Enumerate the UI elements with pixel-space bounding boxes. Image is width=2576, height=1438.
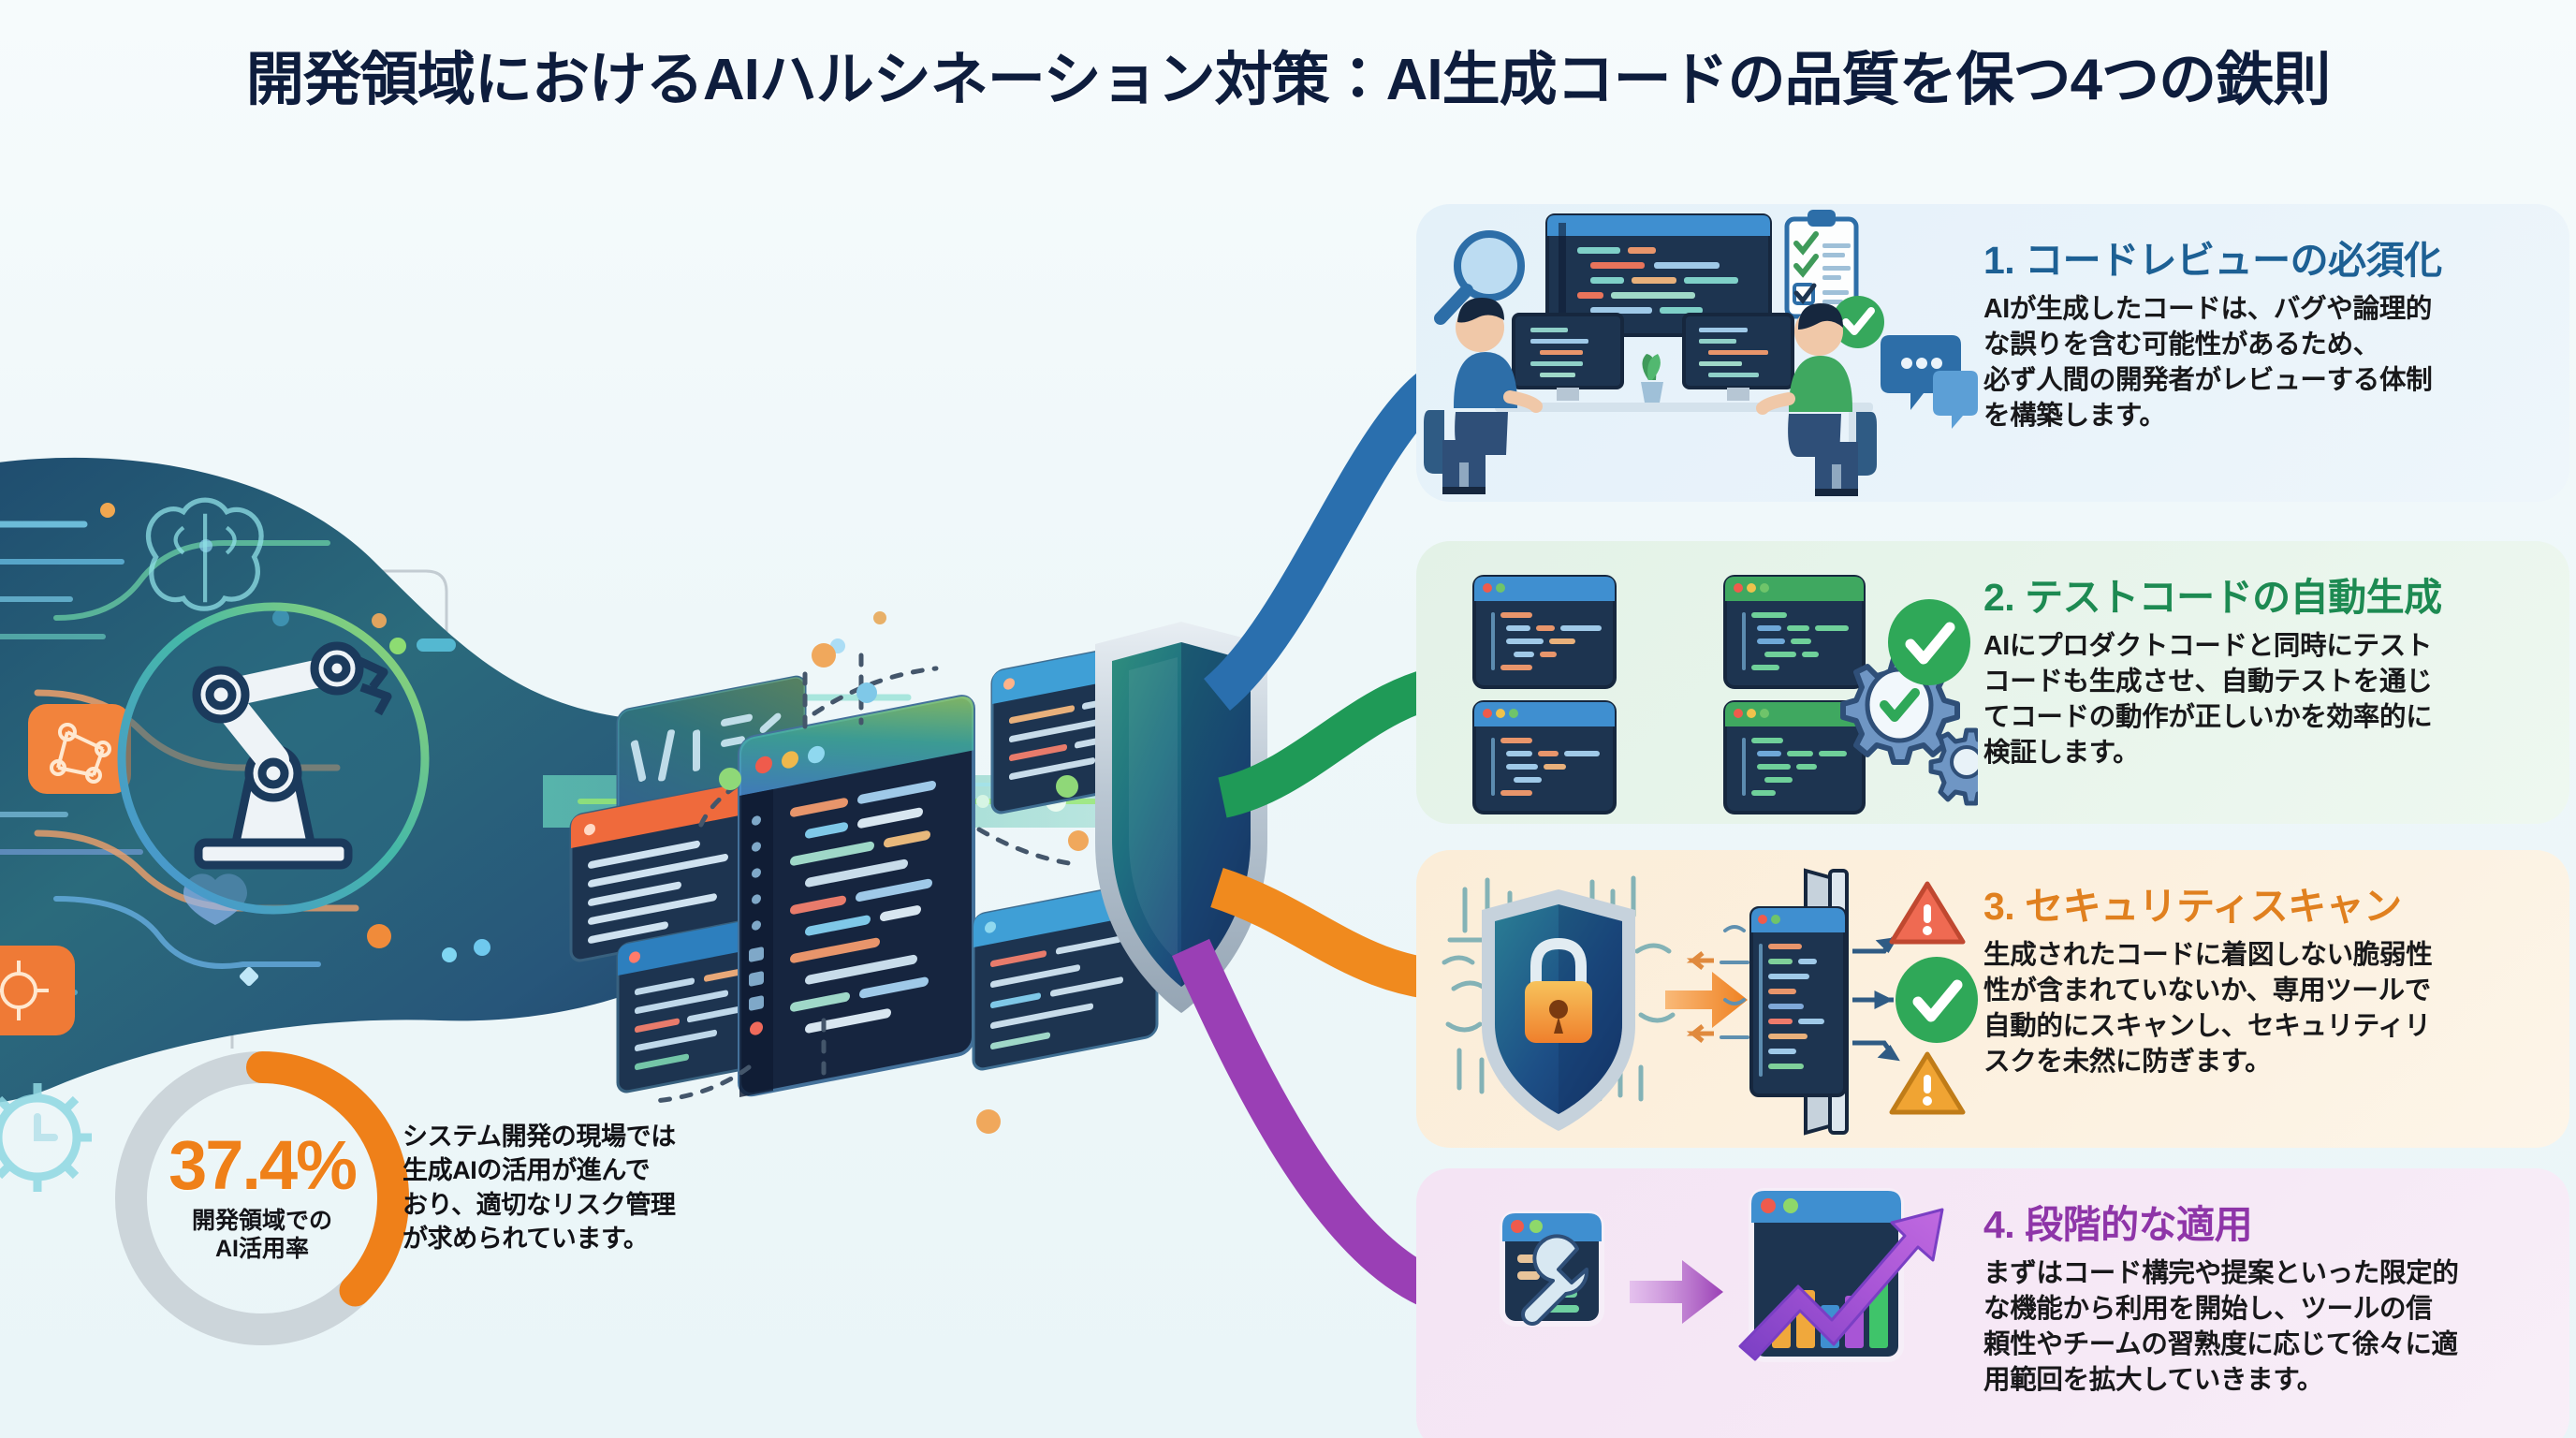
arrow-right-icon	[1665, 972, 1748, 1028]
ai-adoption-donut-chart: 37.4% 開発領域での AI活用率	[101, 1037, 423, 1359]
rule-card-2[interactable]: 2. テストコードの自動生成 AIにプロダクトコードと同時にテスト コードも生成…	[1416, 541, 2569, 824]
code-window-icon	[1725, 577, 1864, 687]
chat-bubble-icon	[1881, 335, 1978, 429]
stat-note: システム開発の現場では 生成AIの活用が進んで おり、適切なリスク管理 が求めら…	[402, 1120, 777, 1256]
wrench-window-icon	[1502, 1213, 1602, 1324]
card-2-heading: 2. テストコードの自動生成	[1983, 565, 2549, 622]
code-window-icon	[1474, 702, 1615, 813]
card-3-body: 生成されたコードに着図しない脆弱性 性が含まれていないか、専用ツールで 自動的に…	[1983, 938, 2549, 1080]
code-window-icon	[1474, 577, 1615, 687]
donut-value: 37.4%	[168, 1133, 356, 1198]
card-1-illustration	[1416, 204, 1978, 502]
card-4-illustration	[1416, 1168, 1978, 1438]
card-3-heading: 3. セキュリティスキャン	[1983, 874, 2549, 931]
rule-card-4[interactable]: 4. 段階的な適用 まずはコード構完や提案といった限定的 な機能から利用を開始し…	[1416, 1168, 2569, 1438]
arrow-right-icon	[1630, 1260, 1723, 1324]
shield-lock-icon	[1482, 889, 1635, 1131]
donut-center-text: 37.4% 開発領域での AI活用率	[101, 1037, 423, 1359]
card-4-body: まずはコード構完や提案といった限定的 な機能から利用を開始し、ツールの信 頼性や…	[1983, 1256, 2549, 1399]
page-title: 開発領域におけるAIハルシネーション対策：AI生成コードの品質を保つ4つの鉄則	[0, 32, 2576, 116]
rule-card-1[interactable]: 1. コードレビューの必須化 AIが生成したコードは、バグや論理的 な誤りを含む…	[1416, 204, 2569, 502]
card-4-heading: 4. 段階的な適用	[1983, 1193, 2549, 1249]
card-3-illustration	[1416, 850, 1978, 1148]
rule-card-3[interactable]: 3. セキュリティスキャン 生成されたコードに着図しない脆弱性 性が含まれていな…	[1416, 850, 2569, 1148]
warning-triangle-icon	[1892, 884, 1963, 942]
check-circle-icon	[1888, 599, 1970, 685]
donut-label: 開発領域での AI活用率	[192, 1207, 332, 1264]
card-2-illustration	[1416, 541, 1978, 824]
check-circle-icon	[1895, 957, 1978, 1043]
plant-icon	[1641, 354, 1663, 403]
warning-triangle-icon	[1892, 1054, 1963, 1112]
card-2-body: AIにプロダクトコードと同時にテスト コードも生成させ、自動テストを通じ てコー…	[1983, 629, 2549, 771]
card-1-heading: 1. コードレビューの必須化	[1983, 228, 2549, 285]
card-1-body: AIが生成したコードは、バグや論理的 な誤りを含む可能性があるため、 必ず人間の…	[1983, 292, 2549, 434]
